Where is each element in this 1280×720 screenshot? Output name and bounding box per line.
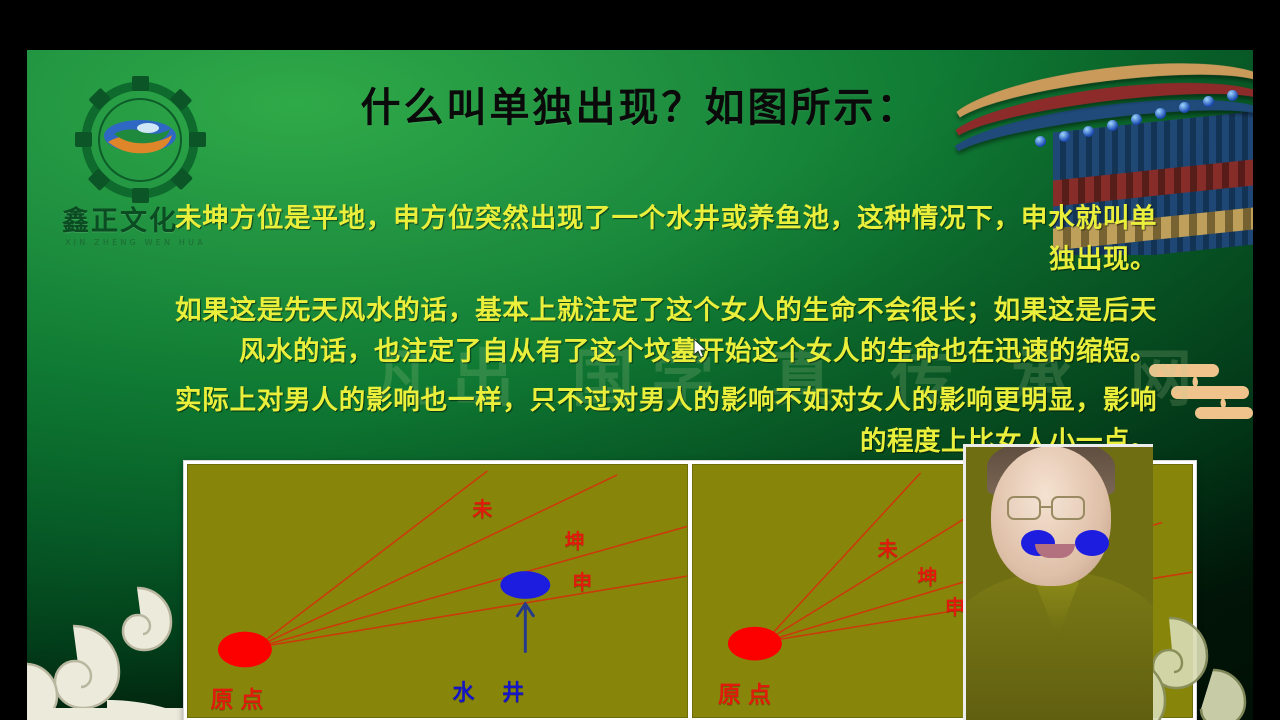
gold-cloud-ornament [1143,350,1253,435]
direction-label-wei: 未 [472,493,492,522]
direction-label-wei: 未 [878,533,898,562]
paragraph-1: 未坤方位是平地，申方位突然出现了一个水井或养鱼池，这种情况下，申水就叫单独出现。 [122,198,1157,280]
slide-title: 什么叫单独出现？如图所示： [27,75,1253,133]
origin-marker [218,632,272,668]
well-marker-behind [1075,530,1109,556]
slide-body: 未坤方位是平地，申方位突然出现了一个水井或养鱼池，这种情况下，申水就叫单独出现。… [122,198,1157,468]
direction-label-kun: 坤 [918,561,938,590]
direction-label-shen: 申 [945,591,965,620]
direction-label-kun: 坤 [565,525,585,554]
screen: 凡出 国学 真 传 承 网 [0,0,1280,720]
diagram-with-well: 未 坤 申 原点 水 井 [187,464,688,718]
well-label: 水 井 [452,675,534,707]
glasses-icon [1051,496,1085,520]
origin-marker [728,627,782,661]
direction-label-shen: 申 [572,566,592,595]
well-marker [500,571,550,599]
glasses-icon [1007,496,1041,520]
logo-wordmark: 鑫正文化 [62,208,237,235]
roof-bead [1035,136,1046,147]
glasses-icon [1041,506,1053,508]
presenter-webcam-overlay[interactable] [963,444,1153,720]
logo-pinyin: XIN ZHENG WEN HUA [65,238,206,247]
paragraph-2: 如果这是先天风水的话，基本上就注定了这个女人的生命不会很长；如果这是后天风水的话… [122,290,1157,372]
origin-label: 原点 [718,675,778,709]
origin-label: 原点 [210,680,270,714]
